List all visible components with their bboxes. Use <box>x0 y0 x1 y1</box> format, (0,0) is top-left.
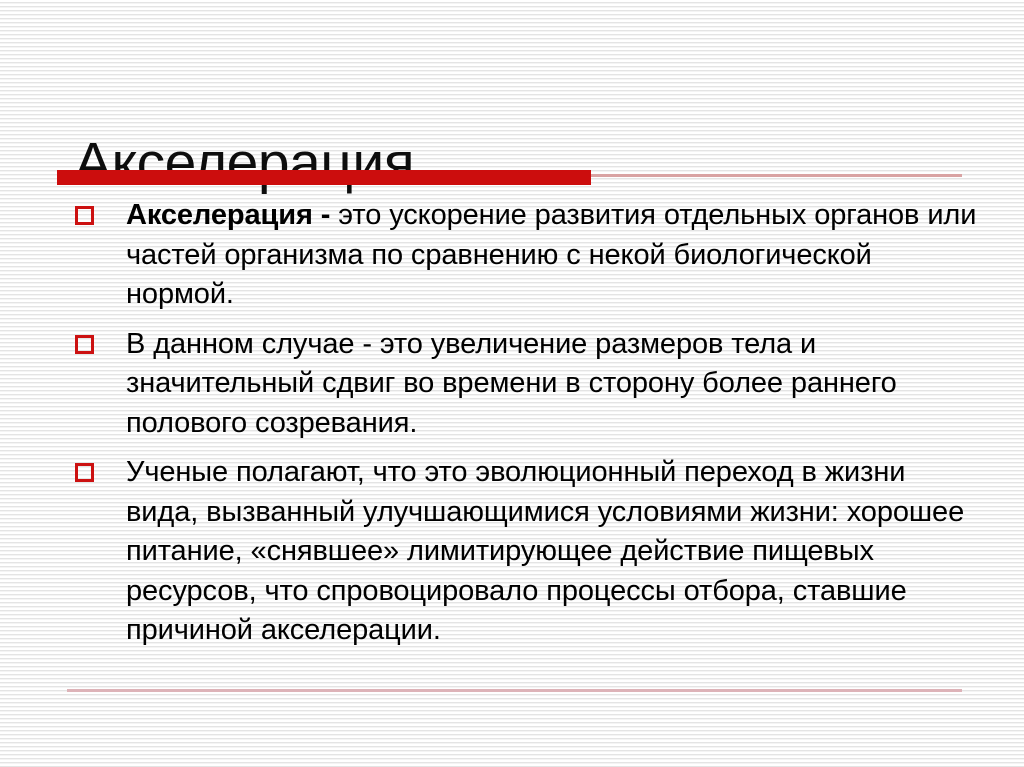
list-item-body: Ученые полагают, что это эволюционный пе… <box>126 456 964 646</box>
hollow-square-bullet-icon <box>75 335 94 354</box>
footer-divider <box>67 689 962 692</box>
list-item-text: Ученые полагают, что это эволюционный пе… <box>126 453 984 651</box>
title-underline-bar <box>57 170 591 185</box>
hollow-square-bullet-icon <box>75 463 94 482</box>
bullet-list: Акселерация - это ускорение развития отд… <box>0 196 1024 661</box>
list-item: В данном случае - это увеличение размеро… <box>0 325 1024 444</box>
list-item-text: В данном случае - это увеличение размеро… <box>126 325 984 444</box>
title-underline-extension <box>591 174 962 177</box>
slide-content: Акселерация Акселерация - это ускорение … <box>0 0 1024 767</box>
presentation-slide: Акселерация Акселерация - это ускорение … <box>0 0 1024 767</box>
hollow-square-bullet-icon <box>75 206 94 225</box>
list-item-text: Акселерация - это ускорение развития отд… <box>126 196 984 315</box>
page-title: Акселерация <box>74 130 414 196</box>
list-item: Акселерация - это ускорение развития отд… <box>0 196 1024 315</box>
list-item-body: В данном случае - это увеличение размеро… <box>126 328 897 439</box>
list-item-lead: Акселерация - <box>126 199 338 231</box>
list-item: Ученые полагают, что это эволюционный пе… <box>0 453 1024 651</box>
